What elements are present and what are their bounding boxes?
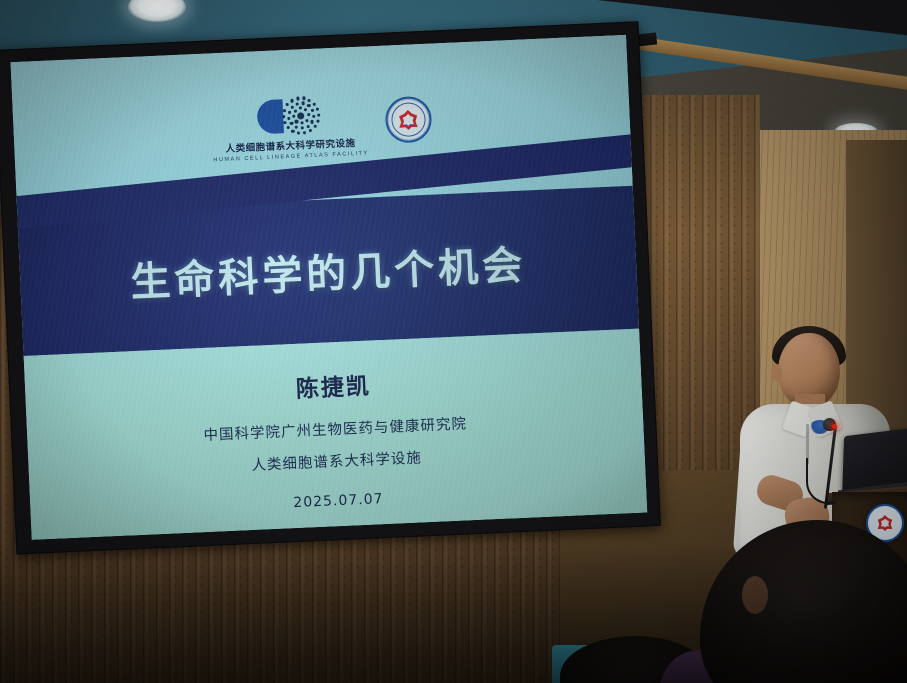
slide-title-area: 生命科学的几个机会 bbox=[17, 185, 639, 356]
bottom-shadow-overlay bbox=[0, 543, 907, 683]
affiliation-line-2: 人类细胞谱系大科学设施 bbox=[251, 446, 422, 475]
hcla-cell-dots-icon bbox=[280, 95, 322, 137]
projection-screen[interactable]: 人类细胞谱系大科学研究设施 HUMAN CELL LINEAGE ATLAS F… bbox=[0, 21, 661, 554]
speaker-name: 陈捷凯 bbox=[295, 367, 371, 404]
seal-flower-shape bbox=[398, 109, 419, 130]
lecture-hall-scene: 人类细胞谱系大科学研究设施 HUMAN CELL LINEAGE ATLAS F… bbox=[0, 0, 907, 683]
slide-header: 人类细胞谱系大科学研究设施 HUMAN CELL LINEAGE ATLAS F… bbox=[11, 35, 633, 213]
slide-body-area: 陈捷凯 中国科学院广州生物医药与健康研究院 人类细胞谱系大科学设施 2025.0… bbox=[24, 329, 648, 540]
podium-seal-flower-shape bbox=[877, 515, 893, 531]
slide-title-text: 生命科学的几个机会 bbox=[129, 233, 527, 309]
presenter-ear bbox=[771, 364, 782, 381]
hcla-brand-block: 人类细胞谱系大科学研究设施 HUMAN CELL LINEAGE ATLAS F… bbox=[210, 87, 368, 164]
screen-surface: 人类细胞谱系大科学研究设施 HUMAN CELL LINEAGE ATLAS F… bbox=[11, 35, 648, 540]
seal-arrow-shape bbox=[404, 114, 412, 125]
gibh-seal-icon bbox=[384, 96, 432, 144]
slide-date: 2025.07.07 bbox=[293, 491, 384, 511]
affiliation-line-1: 中国科学院广州生物医药与健康研究院 bbox=[203, 412, 467, 445]
microphone-led-indicator bbox=[832, 424, 837, 429]
hcla-logo-marks bbox=[256, 95, 322, 138]
